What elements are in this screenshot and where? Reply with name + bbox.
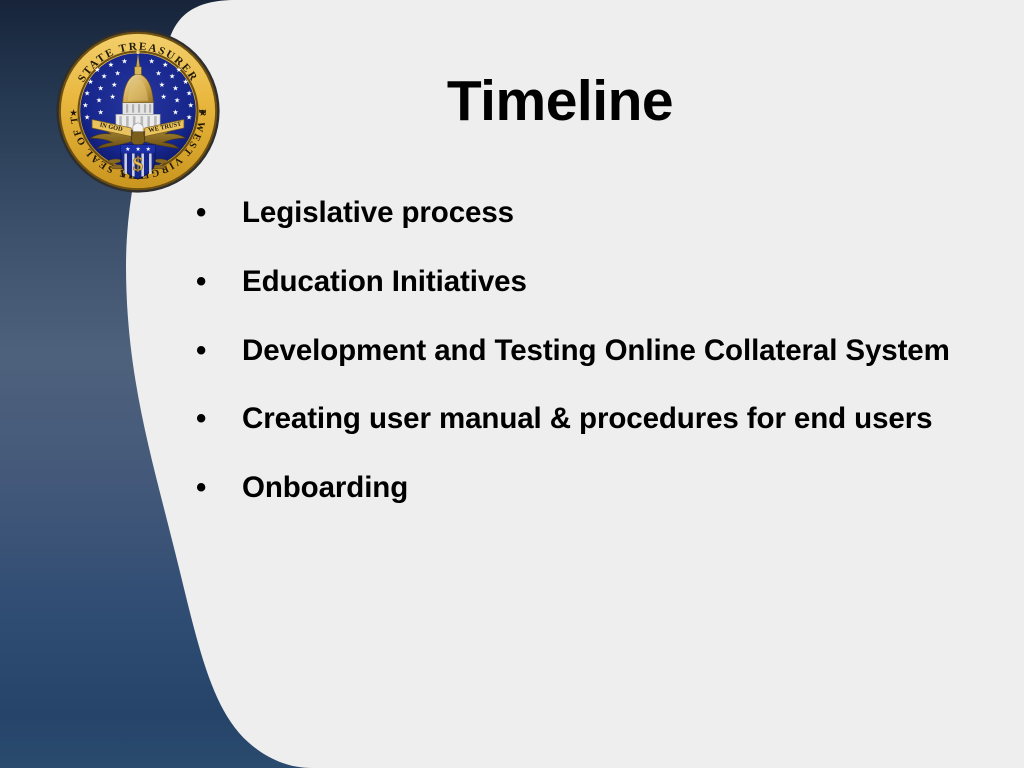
svg-text:★: ★ <box>198 108 206 118</box>
svg-text:★: ★ <box>155 69 161 77</box>
bullet-marker-icon: • <box>196 334 206 369</box>
bullet-marker-icon: • <box>196 265 206 300</box>
list-item-label: Creating user manual & procedures for en… <box>242 402 956 437</box>
svg-text:★: ★ <box>98 108 104 116</box>
bullet-marker-icon: • <box>196 471 206 506</box>
list-item: • Creating user manual & procedures for … <box>186 402 956 437</box>
svg-text:★: ★ <box>98 85 104 93</box>
bullet-marker-icon: • <box>196 196 206 231</box>
wv-state-treasurer-seal-icon: STATE TREASURER OF WEST VIRGINIA THE SEA… <box>46 26 230 196</box>
list-item-label: Legislative process <box>242 196 956 231</box>
svg-text:★: ★ <box>146 146 151 153</box>
svg-text:★: ★ <box>174 96 180 104</box>
svg-text:★: ★ <box>172 85 178 93</box>
page-title: Timeline <box>250 72 870 132</box>
svg-text:$: $ <box>133 153 143 175</box>
svg-text:★: ★ <box>186 113 192 121</box>
svg-text:★: ★ <box>159 81 165 89</box>
svg-text:★: ★ <box>94 66 100 74</box>
svg-text:★: ★ <box>111 81 117 89</box>
svg-text:★: ★ <box>69 108 77 118</box>
svg-text:★: ★ <box>115 69 121 77</box>
svg-text:★: ★ <box>135 146 140 153</box>
slide: STATE TREASURER OF WEST VIRGINIA THE SEA… <box>0 0 1024 768</box>
svg-text:★: ★ <box>183 78 189 86</box>
svg-text:★: ★ <box>162 61 168 69</box>
list-item: • Legislative process <box>186 196 956 231</box>
svg-text:★: ★ <box>186 90 192 98</box>
list-item: • Development and Testing Online Collate… <box>186 334 956 369</box>
svg-text:★: ★ <box>87 78 93 86</box>
svg-text:★: ★ <box>160 93 166 101</box>
svg-text:★: ★ <box>101 73 107 81</box>
svg-text:★: ★ <box>109 93 115 101</box>
svg-text:★: ★ <box>149 57 155 65</box>
svg-text:★: ★ <box>125 146 130 153</box>
svg-text:★: ★ <box>84 113 90 121</box>
list-item-label: Development and Testing Online Collatera… <box>242 334 956 369</box>
svg-text:★: ★ <box>172 108 178 116</box>
list-item: • Education Initiatives <box>186 265 956 300</box>
svg-text:★: ★ <box>84 90 90 98</box>
list-item-label: Education Initiatives <box>242 265 956 300</box>
list-item: • Onboarding <box>186 471 956 506</box>
bullet-marker-icon: • <box>196 402 206 437</box>
bullet-list: • Legislative process • Education Initia… <box>186 196 956 506</box>
svg-text:★: ★ <box>188 102 194 110</box>
svg-text:★: ★ <box>176 66 182 74</box>
svg-text:★: ★ <box>108 61 114 69</box>
list-item-label: Onboarding <box>242 471 956 506</box>
svg-text:★: ★ <box>82 102 88 110</box>
svg-text:★: ★ <box>96 96 102 104</box>
svg-text:★: ★ <box>169 73 175 81</box>
svg-text:★: ★ <box>121 57 127 65</box>
